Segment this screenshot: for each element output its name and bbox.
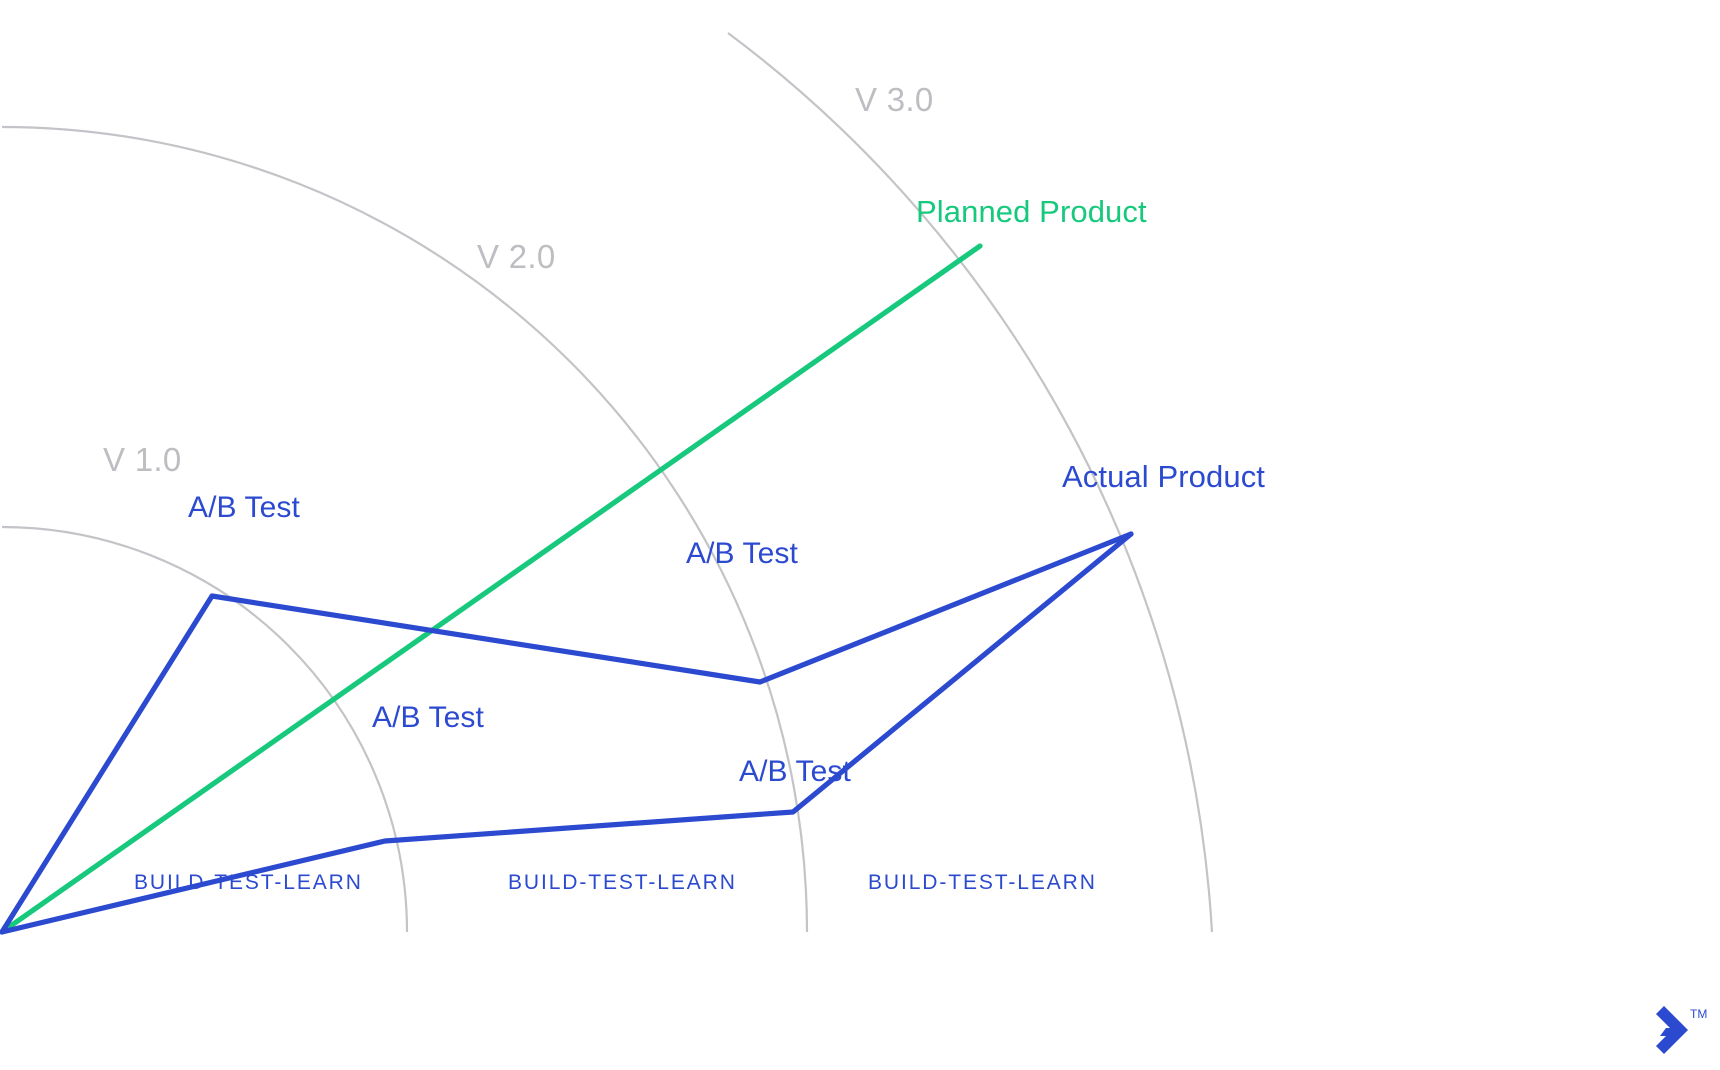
polar-diagram-svg — [0, 0, 1720, 1070]
version-arcs — [2, 33, 1212, 932]
arc-v2 — [2, 127, 807, 932]
actual-product-label: Actual Product — [1062, 461, 1265, 492]
version-label-v2: V 2.0 — [477, 240, 556, 273]
venngage-chevron-logo[interactable]: TM — [1638, 1002, 1712, 1064]
cycle-axis-label-3: BUILD-TEST-LEARN — [868, 872, 1097, 893]
cycle-axis-label-1: BUILD-TEST-LEARN — [134, 872, 363, 893]
version-label-v3: V 3.0 — [855, 83, 934, 116]
ab-test-annotation-4: A/B Test — [739, 757, 851, 787]
trademark-text: TM — [1690, 1007, 1707, 1021]
ab-test-annotation-2: A/B Test — [686, 539, 798, 569]
planned-product-path — [2, 246, 980, 932]
ab-test-annotation-3: A/B Test — [372, 703, 484, 733]
version-label-v1: V 1.0 — [103, 443, 182, 476]
ab-test-annotation-1: A/B Test — [188, 493, 300, 523]
planned-product-line — [2, 246, 980, 932]
planned-product-label: Planned Product — [916, 196, 1147, 227]
diagram-canvas: V 1.0 V 2.0 V 3.0 Planned Product Actual… — [0, 0, 1720, 1070]
cycle-axis-label-2: BUILD-TEST-LEARN — [508, 872, 737, 893]
